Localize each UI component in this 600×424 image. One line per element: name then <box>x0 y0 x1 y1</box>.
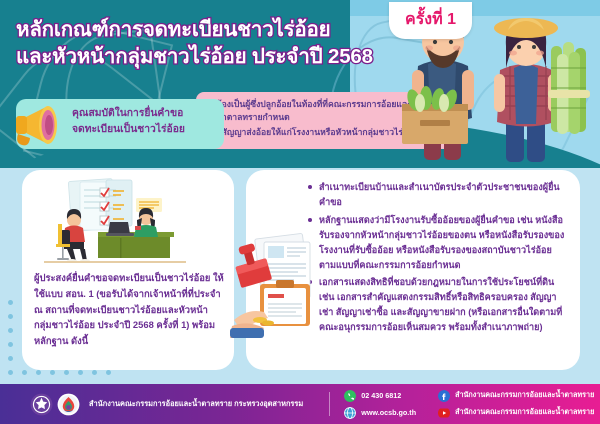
footer-facebook[interactable]: สำนักงานคณะกรรมการอ้อยและน้ำตาลทราย <box>438 390 594 402</box>
infographic-poster: ครั้งที่ 1 หลักเกณฑ์การจดทะเบียนชาวไร่อ้… <box>0 0 600 424</box>
megaphone-icon <box>10 100 68 150</box>
phone-icon <box>344 390 356 402</box>
title-line-1: หลักเกณฑ์การจดทะเบียนชาวไร่อ้อย <box>16 16 436 43</box>
footer-phone[interactable]: 02 430 6812 <box>344 390 416 402</box>
document-item: หลักฐานแสดงว่ามีโรงงานรับซื้ออ้อยของผู้ย… <box>308 213 568 273</box>
poster-footer: สำนักงานคณะกรรมการอ้อยและน้ำตาลทราย กระท… <box>0 384 600 424</box>
application-form-text: ผู้ประสงค์ยื่นคำขอจดทะเบียนเป็นชาวไร่อ้อ… <box>34 270 224 349</box>
qualification-heading-panel: คุณสมบัติในการยื่นคำขอ จดทะเบียนเป็นชาวไ… <box>16 99 224 149</box>
footer-organization-name: สำนักงานคณะกรรมการอ้อยและน้ำตาลทราย กระท… <box>89 398 303 410</box>
qualification-heading-line-1: คุณสมบัติในการยื่นคำขอ <box>72 106 217 122</box>
qualification-heading-text: คุณสมบัติในการยื่นคำขอ จดทะเบียนเป็นชาวไ… <box>72 106 217 138</box>
document-item: สำเนาทะเบียนบ้านและสำเนาบัตรประจำตัวประช… <box>308 180 568 210</box>
round-badge: ครั้งที่ 1 <box>389 2 472 39</box>
footer-facebook-text: สำนักงานคณะกรรมการอ้อยและน้ำตาลทราย <box>455 390 594 401</box>
footer-youtube-text: สำนักงานคณะกรรมการอ้อยและน้ำตาลทราย <box>455 407 594 418</box>
ministry-emblem-logo-icon <box>30 393 53 416</box>
application-form-card: ผู้ประสงค์ยื่นคำขอจดทะเบียนเป็นชาวไร่อ้อ… <box>22 170 234 370</box>
registration-desk-illustration <box>36 178 222 264</box>
globe-icon <box>344 407 356 419</box>
document-item: เอกสารแสดงสิทธิที่ชอบด้วยกฎหมายในการใช้ป… <box>308 275 568 335</box>
footer-logos <box>30 393 80 416</box>
footer-phone-text: 02 430 6812 <box>361 391 401 400</box>
required-documents-list: สำเนาทะเบียนบ้านและสำเนาบัตรประจำตัวประช… <box>308 180 568 338</box>
ocsb-logo-icon <box>57 393 80 416</box>
title-line-2: และหัวหน้ากลุ่มชาวไร่อ้อย ประจำปี 2568 <box>16 43 436 70</box>
youtube-icon <box>438 407 450 419</box>
facebook-icon <box>438 390 450 402</box>
badge-label: ครั้งที่ 1 <box>405 11 456 28</box>
documents-stamp-illustration <box>230 228 326 338</box>
required-documents-card: สำเนาทะเบียนบ้านและสำเนาบัตรประจำตัวประช… <box>246 170 580 370</box>
footer-website-text: www.ocsb.go.th <box>361 408 416 417</box>
poster-title: หลักเกณฑ์การจดทะเบียนชาวไร่อ้อย และหัวหน… <box>16 16 436 70</box>
footer-contacts: 02 430 6812 www.ocsb.go.th <box>344 390 594 419</box>
footer-youtube[interactable]: สำนักงานคณะกรรมการอ้อยและน้ำตาลทราย <box>438 407 594 419</box>
qualification-heading-line-2: จดทะเบียนเป็นชาวไร่อ้อย <box>72 122 217 138</box>
footer-website[interactable]: www.ocsb.go.th <box>344 407 416 419</box>
footer-divider <box>329 392 330 416</box>
